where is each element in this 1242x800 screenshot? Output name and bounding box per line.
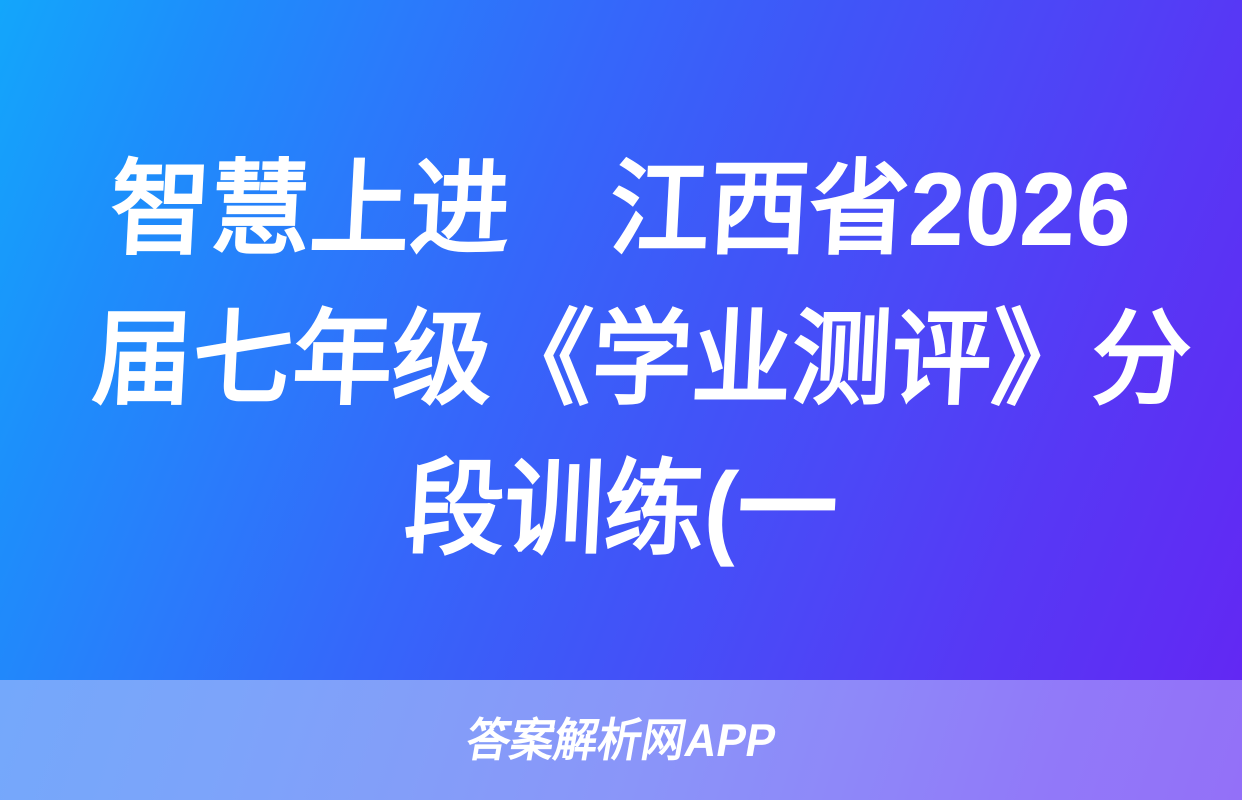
- headline-line-3: 段训练(一: [89, 435, 1153, 585]
- footer-watermark-bar: 答案解析网APP: [0, 680, 1242, 800]
- poster-banner: 智慧上进 江西省2026 届七年级《学业测评》分 段训练(一 答案解析网APP: [0, 0, 1242, 800]
- footer-watermark-text: 答案解析网APP: [462, 715, 779, 765]
- headline-line-1: 智慧上进 江西省2026: [89, 135, 1153, 285]
- headline-block: 智慧上进 江西省2026 届七年级《学业测评》分 段训练(一: [0, 0, 1242, 680]
- headline-line-2: 届七年级《学业测评》分: [89, 285, 1153, 435]
